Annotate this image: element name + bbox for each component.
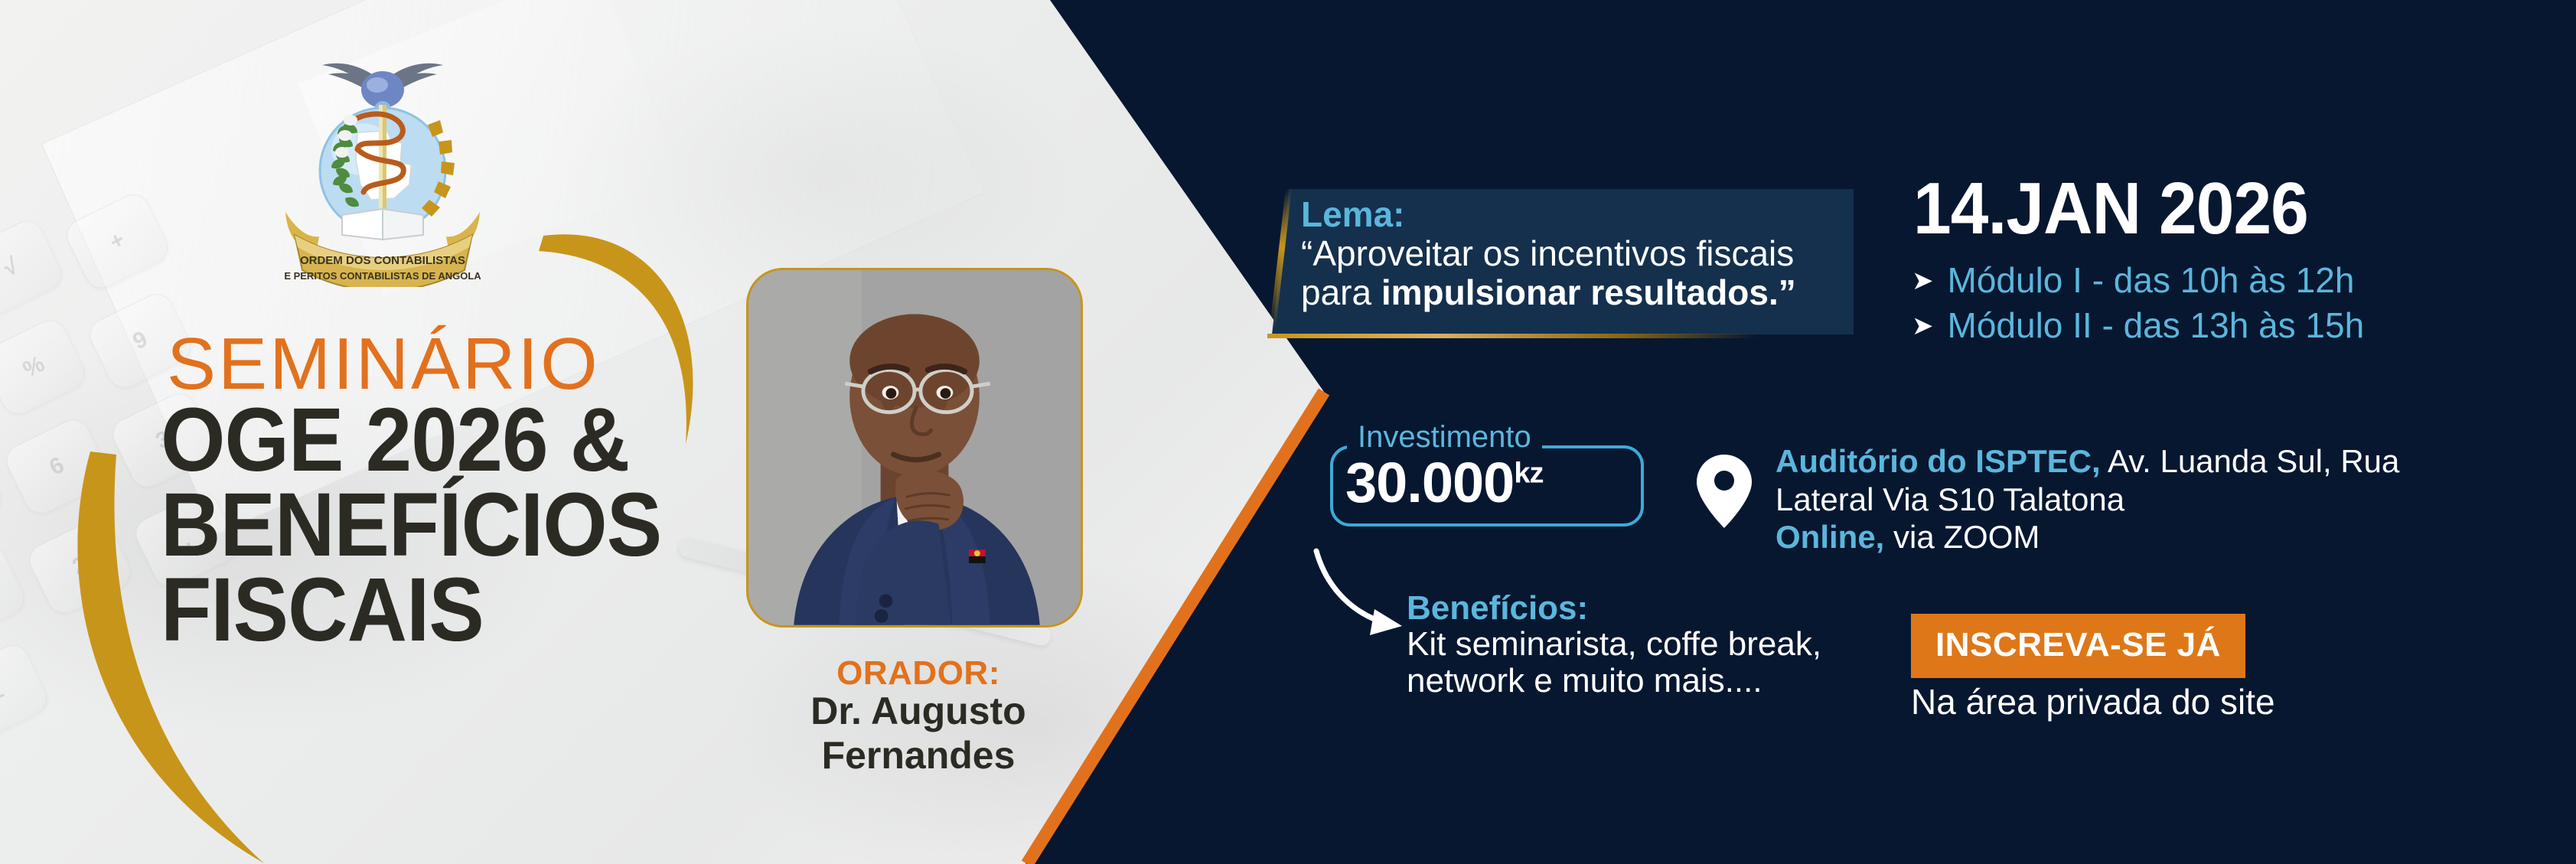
title-line-2: BENEFÍCIOS <box>161 483 661 568</box>
calc-key: 6 <box>1 414 112 519</box>
online-platform: via ZOOM <box>1884 519 2040 555</box>
seminar-banner: M- √ + M+ % 9 C 6 3 5 2 . 1 <box>0 0 2576 864</box>
calc-key: 2 <box>24 514 135 618</box>
online-label: Online, <box>1775 519 1884 555</box>
investment-number: 30.000 <box>1345 451 1514 514</box>
module-item: ➤ Módulo I - das 10h às 12h <box>1912 260 2447 301</box>
benefits-line-2: network e muito mais.... <box>1407 663 1896 699</box>
title-line-3: FISCAIS <box>161 568 661 653</box>
module-list: ➤ Módulo I - das 10h às 12h ➤ Módulo II … <box>1912 260 2447 351</box>
calc-key: √ <box>0 215 67 320</box>
venue-name: Auditório do ISPTEC, <box>1775 443 2101 479</box>
arrow-right-icon: ➤ <box>1912 313 1934 339</box>
location-text: Auditório do ISPTEC, Av. Luanda Sul, Rua… <box>1775 442 2464 556</box>
benefits-heading: Benefícios: <box>1407 589 1588 628</box>
ordem-contabilistas-angola-emblem-icon: ORDEM DOS CONTABILISTAS E PERITOS CONTAB… <box>272 34 494 287</box>
investment-amount: 30.000kz <box>1345 450 1543 515</box>
speaker-photo <box>746 268 1083 628</box>
emblem-ribbon-line2: E PERITOS CONTABILISTAS DE ANGOLA <box>284 270 481 282</box>
venue-address-part1: Av. Luanda Sul, Rua <box>2101 443 2400 479</box>
benefits-line-1: Kit seminarista, coffe break, <box>1407 626 1896 663</box>
online-line: Online, via ZOOM <box>1775 518 2464 556</box>
speaker-portrait-illustration <box>748 270 1081 625</box>
event-date: 14.JAN 2026 <box>1913 167 2308 251</box>
investment-label: Investimento <box>1347 422 1542 452</box>
module-label: Módulo I - das 10h às 12h <box>1948 260 2355 301</box>
lema-text-group: Lema: “Aproveitar os incentivos fiscais … <box>1301 195 1867 313</box>
calc-key: 5 <box>0 540 30 645</box>
benefits-text: Kit seminarista, coffe break, network e … <box>1407 626 1896 700</box>
lema-quote-plain: para <box>1301 272 1381 312</box>
venue-line-1: Auditório do ISPTEC, Av. Luanda Sul, Rua <box>1775 442 2464 481</box>
page-title: OGE 2026 & BENEFÍCIOS FISCAIS <box>161 398 661 653</box>
lema-gold-top-border <box>1290 186 1854 190</box>
calc-key: C <box>0 441 7 546</box>
module-item: ➤ Módulo II - das 13h às 15h <box>1912 305 2447 346</box>
arrow-right-icon: ➤ <box>1912 268 1934 294</box>
module-label: Módulo II - das 13h às 15h <box>1948 305 2365 346</box>
title-line-1: OGE 2026 & <box>161 398 661 483</box>
calc-key: % <box>0 315 90 419</box>
calc-key: 1 <box>0 640 53 745</box>
register-button[interactable]: INSCREVA-SE JÁ <box>1911 614 2245 678</box>
emblem-ribbon-line1: ORDEM DOS CONTABILISTAS <box>300 254 465 267</box>
lema-quote-line-1: “Aproveitar os incentivos fiscais <box>1301 234 1867 274</box>
lema-heading: Lema: <box>1301 195 1867 234</box>
lema-quote-line-2: para impulsionar resultados.” <box>1301 273 1867 313</box>
calc-key: + <box>61 189 173 294</box>
investment-currency: kz <box>1514 457 1543 489</box>
register-subtitle: Na área privada do site <box>1911 681 2275 722</box>
lema-gold-bottom-border <box>1267 334 1757 338</box>
venue-line-2: Lateral Via S10 Talatona <box>1775 481 2464 519</box>
speaker-role-label: ORADOR: <box>773 654 1064 693</box>
map-pin-icon <box>1695 453 1753 530</box>
lema-quote-bold: impulsionar resultados.” <box>1381 272 1796 312</box>
speaker-name: Dr. Augusto Fernandes <box>712 689 1125 778</box>
